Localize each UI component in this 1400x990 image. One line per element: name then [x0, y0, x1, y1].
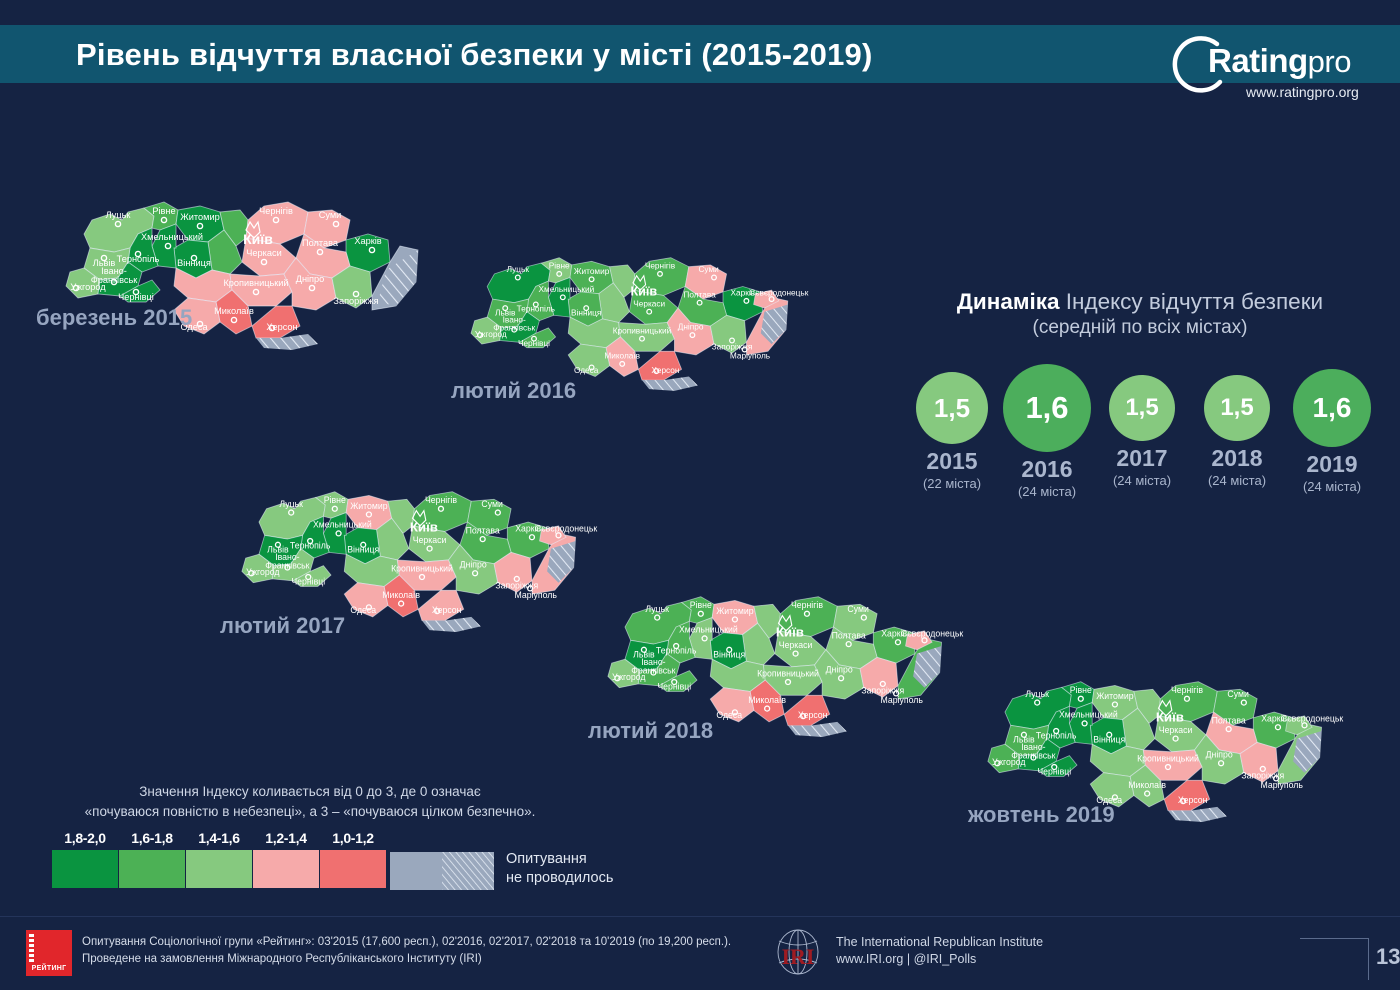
legend-note-line2: «почуваюся повністю в небезпеці», а 3 – …	[30, 802, 590, 822]
ukraine-map-2017-svg: ЛуцькРівне ЖитомирЛьвів ТернопільХмельни…	[232, 450, 612, 632]
svg-text:Сєвєродонецьк: Сєвєродонецьк	[901, 629, 963, 639]
map-2016[interactable]: ЛуцькРівне ЖитомирЛьвів ТернопільХмельни…	[462, 218, 822, 393]
rating-bars-icon	[29, 934, 34, 964]
svg-text:Полтава: Полтава	[832, 630, 866, 640]
svg-text:Дніпро: Дніпро	[826, 665, 853, 675]
legend-note: Значення Індексу коливається від 0 до 3,…	[30, 782, 590, 822]
map-caption-2019: жовтень 2019	[968, 802, 1115, 828]
svg-text:Тернопіль: Тернопіль	[656, 646, 697, 656]
dynamics-year-2019: 2019	[1285, 451, 1379, 478]
svg-text:Київ: Київ	[776, 625, 804, 640]
legend-swatch-3[interactable]: 1,4-1,6	[186, 830, 252, 888]
svg-text:Тернопіль: Тернопіль	[1036, 731, 1077, 741]
svg-text:Миколаїв: Миколаїв	[214, 306, 254, 316]
dynamics-value-2017: 1,5	[1125, 394, 1158, 422]
legend-swatch-color-3	[186, 850, 252, 888]
svg-text:Кропивницький: Кропивницький	[391, 563, 453, 573]
svg-text:Херсон: Херсон	[266, 322, 297, 332]
svg-text:Маріуполь: Маріуполь	[730, 352, 770, 361]
svg-text:Чернігів: Чернігів	[791, 600, 823, 610]
svg-text:Херсон: Херсон	[798, 710, 828, 720]
svg-text:Хмельницький: Хмельницький	[679, 625, 738, 635]
svg-text:Житомир: Житомир	[574, 267, 610, 276]
svg-text:Хмельницький: Хмельницький	[313, 520, 372, 530]
svg-text:Суми: Суми	[698, 265, 719, 274]
svg-text:Чернівці: Чернівці	[518, 339, 550, 348]
svg-text:Черкаси: Черкаси	[1159, 725, 1193, 735]
svg-text:Чернігів: Чернігів	[645, 262, 676, 271]
page-number: 13	[1376, 944, 1400, 970]
svg-text:Суми: Суми	[847, 604, 869, 614]
legend-swatch-1[interactable]: 1,8-2,0	[52, 830, 118, 888]
svg-text:Чернівці: Чернівці	[291, 577, 325, 587]
legend-swatch-5[interactable]: 1,0-1,2	[320, 830, 386, 888]
dynamics-panel: Динаміка Індексу відчуття безпеки (серед…	[905, 288, 1375, 513]
legend-swatch-color-2	[119, 850, 185, 888]
dynamics-value-2015: 1,5	[934, 393, 970, 424]
svg-text:Київ: Київ	[1156, 710, 1184, 725]
svg-text:Рівне: Рівне	[549, 262, 570, 271]
svg-text:Херсон: Херсон	[651, 366, 679, 375]
svg-text:Одеса: Одеса	[350, 605, 376, 615]
svg-text:Одеса: Одеса	[574, 366, 599, 375]
svg-text:Одеса: Одеса	[716, 710, 742, 720]
svg-text:Чернігів: Чернігів	[259, 206, 293, 216]
dynamics-year-2017: 2017	[1095, 445, 1189, 472]
svg-text:Черкаси: Черкаси	[633, 299, 665, 308]
svg-text:Маріуполь: Маріуполь	[515, 590, 558, 600]
dynamics-item-2015[interactable]: 1,5 2015 (22 міста)	[905, 372, 999, 491]
svg-text:Ужгород: Ужгород	[246, 567, 280, 577]
legend-swatch-color-5	[320, 850, 386, 888]
svg-text:Вінниця: Вінниця	[347, 544, 379, 554]
footer-source: Опитування Соціологічної групи «Рейтинг»…	[82, 934, 782, 968]
svg-text:Тернопіль: Тернопіль	[290, 541, 331, 551]
dynamics-value-2016: 1,6	[1025, 390, 1068, 426]
svg-text:Луцьк: Луцьк	[106, 210, 132, 220]
svg-text:Полтава: Полтава	[466, 525, 500, 535]
svg-text:Маріуполь: Маріуполь	[881, 695, 924, 705]
iri-text: The International Republican Institute w…	[836, 934, 1043, 968]
svg-text:Херсон: Херсон	[432, 605, 462, 615]
dynamics-count-2017: (24 міста)	[1095, 473, 1189, 488]
dynamics-bubble-2016: 1,6	[1003, 364, 1091, 452]
svg-text:Житомир: Житомир	[350, 501, 388, 511]
svg-text:Луцьк: Луцьк	[1025, 689, 1049, 699]
svg-text:Чернігів: Чернігів	[1171, 685, 1203, 695]
svg-text:IRI: IRI	[781, 944, 814, 969]
legend-swatch-label-4: 1,2-1,4	[253, 830, 319, 846]
legend-no-survey-line1: Опитування	[506, 850, 613, 869]
svg-text:Миколаїв: Миколаїв	[604, 352, 640, 361]
hatch-pattern-icon	[390, 852, 494, 890]
ukraine-map-2018-svg: ЛуцькРівне ЖитомирЛьвів ТернопільХмельни…	[598, 555, 978, 737]
page-rule-vertical	[1368, 938, 1369, 980]
svg-text:Запоріжжя: Запоріжжя	[333, 296, 378, 306]
svg-text:Київ: Київ	[630, 285, 657, 299]
dynamics-year-2018: 2018	[1190, 445, 1284, 472]
legend-swatch-color-4	[253, 850, 319, 888]
iri-line2: www.IRI.org | @IRI_Polls	[836, 951, 1043, 968]
svg-text:Запоріжжя: Запоріжжя	[712, 343, 753, 352]
dynamics-bubble-2017: 1,5	[1109, 375, 1175, 441]
svg-text:Черкаси: Черкаси	[779, 640, 813, 650]
svg-text:Чернівці: Чернівці	[657, 682, 691, 692]
svg-text:Чернівці: Чернівці	[118, 292, 154, 302]
map-2017[interactable]: ЛуцькРівне ЖитомирЛьвів ТернопільХмельни…	[232, 450, 612, 635]
legend-swatch-label-3: 1,4-1,6	[186, 830, 252, 846]
svg-text:Херсон: Херсон	[1178, 795, 1208, 805]
legend-swatch-label-1: 1,8-2,0	[52, 830, 118, 846]
map-2019[interactable]: ЛуцькРівне ЖитомирЛьвів ТернопільХмельни…	[978, 640, 1358, 825]
legend-no-survey-line2: не проводилось	[506, 869, 613, 888]
svg-text:Кропивницький: Кропивницький	[1137, 753, 1199, 763]
dynamics-title: Динаміка Індексу відчуття безпеки	[905, 288, 1375, 315]
svg-text:Полтава: Полтава	[1212, 715, 1246, 725]
svg-text:Сєвєродонецьк: Сєвєродонецьк	[1281, 714, 1343, 724]
legend-swatch-2[interactable]: 1,6-1,8	[119, 830, 185, 888]
svg-text:Маріуполь: Маріуполь	[1261, 780, 1304, 790]
ratingpro-logo[interactable]: Ratingpro www.ratingpro.org	[1170, 28, 1380, 108]
svg-text:Хмельницький: Хмельницький	[539, 285, 595, 294]
svg-text:Полтава: Полтава	[302, 238, 339, 248]
dynamics-bubble-2015: 1,5	[916, 372, 988, 444]
rating-logo-word: РЕЙТИНГ	[26, 965, 72, 972]
dynamics-item-2017[interactable]: 1,5 2017 (24 міста)	[1095, 375, 1189, 488]
svg-text:Луцьк: Луцьк	[645, 604, 669, 614]
svg-text:Хмельницький: Хмельницький	[141, 232, 203, 242]
svg-text:Кропивницький: Кропивницький	[223, 278, 288, 288]
svg-text:Миколаїв: Миколаїв	[748, 695, 786, 705]
logo-wordmark: Ratingpro	[1208, 42, 1351, 81]
svg-text:Харків: Харків	[354, 236, 381, 246]
svg-text:Вінниця: Вінниця	[713, 649, 745, 659]
svg-text:Суми: Суми	[1227, 689, 1249, 699]
dynamics-count-2019: (24 міста)	[1285, 479, 1379, 494]
svg-text:Київ: Київ	[410, 520, 438, 535]
logo-name: Rating	[1208, 42, 1308, 79]
legend-swatch-label-2: 1,6-1,8	[119, 830, 185, 846]
footer-source-line1: Опитування Соціологічної групи «Рейтинг»…	[82, 934, 782, 951]
page-title: Рівень відчуття власної безпеки у місті …	[76, 33, 1176, 77]
svg-text:Дніпро: Дніпро	[678, 323, 704, 332]
dynamics-item-2016[interactable]: 1,6 2016 (24 міста)	[1000, 364, 1094, 499]
legend-swatch-4[interactable]: 1,2-1,4	[253, 830, 319, 888]
svg-text:Полтава: Полтава	[683, 290, 716, 299]
footer-divider	[0, 916, 1400, 917]
dynamics-title-rest: Індексу відчуття безпеки	[1060, 289, 1324, 314]
ukraine-map-2019-svg: ЛуцькРівне ЖитомирЛьвів ТернопільХмельни…	[978, 640, 1358, 822]
map-caption-2017: лютий 2017	[220, 613, 345, 639]
svg-text:Луцьк: Луцьк	[507, 265, 530, 274]
dynamics-count-2016: (24 міста)	[1000, 484, 1094, 499]
logo-url: www.ratingpro.org	[1246, 84, 1359, 100]
svg-text:Рівне: Рівне	[1070, 685, 1092, 695]
svg-text:Ужгород: Ужгород	[70, 282, 106, 292]
dynamics-bubble-2018: 1,5	[1204, 375, 1270, 441]
svg-text:Чернігів: Чернігів	[425, 495, 457, 505]
svg-text:Київ: Київ	[243, 231, 273, 247]
svg-text:Житомир: Житомир	[716, 606, 754, 616]
svg-text:Вінниця: Вінниця	[1093, 734, 1125, 744]
legend-swatch-label-5: 1,0-1,2	[320, 830, 386, 846]
svg-text:Вінниця: Вінниця	[571, 308, 601, 317]
svg-text:Дніпро: Дніпро	[460, 560, 487, 570]
map-caption-2016: лютий 2016	[451, 378, 576, 404]
dynamics-value-2019: 1,6	[1313, 392, 1352, 424]
dynamics-item-2018[interactable]: 1,5 2018 (24 міста)	[1190, 375, 1284, 488]
svg-text:Тернопіль: Тернопіль	[517, 305, 555, 314]
svg-text:Дніпро: Дніпро	[296, 274, 325, 284]
svg-text:Кропивницький: Кропивницький	[613, 326, 672, 335]
svg-text:Рівне: Рівне	[324, 495, 346, 505]
legend-no-survey[interactable]: Опитування не проводилось	[390, 852, 620, 896]
svg-text:Суми: Суми	[481, 499, 503, 509]
dynamics-year-2015: 2015	[905, 448, 999, 475]
dynamics-item-2019[interactable]: 1,6 2019 (24 міста)	[1285, 369, 1379, 494]
logo-suffix: pro	[1308, 44, 1351, 79]
iri-globe-icon: IRI	[772, 928, 828, 978]
dynamics-value-2018: 1,5	[1220, 394, 1253, 422]
iri-line1: The International Republican Institute	[836, 934, 1043, 951]
legend-no-survey-text: Опитування не проводилось	[506, 850, 613, 888]
svg-text:Чернівці: Чернівці	[1037, 767, 1071, 777]
dynamics-title-strong: Динаміка	[957, 289, 1060, 314]
map-caption-2018: лютий 2018	[588, 718, 713, 744]
svg-text:Луцьк: Луцьк	[279, 499, 303, 509]
svg-text:Житомир: Житомир	[180, 212, 219, 222]
svg-text:Вінниця: Вінниця	[177, 258, 211, 268]
dynamics-subtitle: (середній по всіх містах)	[905, 316, 1375, 340]
svg-text:Кропивницький: Кропивницький	[757, 668, 819, 678]
svg-text:Черкаси: Черкаси	[413, 535, 447, 545]
footer-source-line2: Проведене на замовлення Міжнародного Рес…	[82, 951, 782, 968]
svg-text:Хмельницький: Хмельницький	[1059, 710, 1118, 720]
legend-no-survey-swatch	[390, 852, 494, 890]
svg-text:Ужгород: Ужгород	[475, 330, 507, 339]
dynamics-count-2015: (22 міста)	[905, 476, 999, 491]
dynamics-count-2018: (24 міста)	[1190, 473, 1284, 488]
infographic-stage: Рівень відчуття власної безпеки у місті …	[0, 0, 1400, 990]
svg-text:Суми: Суми	[319, 210, 342, 220]
svg-text:Житомир: Житомир	[1096, 691, 1134, 701]
svg-text:Миколаїв: Миколаїв	[382, 590, 420, 600]
page-rule-horizontal	[1300, 938, 1368, 939]
svg-text:Рівне: Рівне	[690, 600, 712, 610]
rating-logo[interactable]: РЕЙТИНГ	[26, 930, 72, 976]
dynamics-year-2016: 2016	[1000, 456, 1094, 483]
svg-text:Ужгород: Ужгород	[612, 672, 646, 682]
svg-text:Рівне: Рівне	[152, 206, 175, 216]
legend-swatch-color-1	[52, 850, 118, 888]
svg-text:Сєвєродонецьк: Сєвєродонецьк	[535, 524, 597, 534]
svg-text:Миколаїв: Миколаїв	[1128, 780, 1166, 790]
svg-text:Тернопіль: Тернопіль	[117, 254, 160, 264]
map-2018[interactable]: ЛуцькРівне ЖитомирЛьвів ТернопільХмельни…	[598, 555, 978, 740]
dynamics-items: 1,5 2015 (22 міста) 1,6 2016 (24 міста) …	[905, 360, 1375, 510]
dynamics-bubble-2019: 1,6	[1293, 369, 1371, 447]
map-caption-2015: березень 2015	[36, 305, 192, 331]
svg-text:Сєвєродонецьк: Сєвєродонецьк	[749, 289, 808, 298]
iri-logo-block[interactable]: IRI The International Republican Institu…	[772, 928, 1102, 978]
ukraine-map-2016-svg: ЛуцькРівне ЖитомирЛьвів ТернопільХмельни…	[462, 218, 822, 391]
svg-text:Ужгород: Ужгород	[992, 757, 1026, 767]
legend-note-line1: Значення Індексу коливається від 0 до 3,…	[30, 782, 590, 802]
svg-text:Черкаси: Черкаси	[246, 248, 281, 258]
page-number-block: 13	[1300, 932, 1390, 982]
svg-text:Дніпро: Дніпро	[1206, 750, 1233, 760]
